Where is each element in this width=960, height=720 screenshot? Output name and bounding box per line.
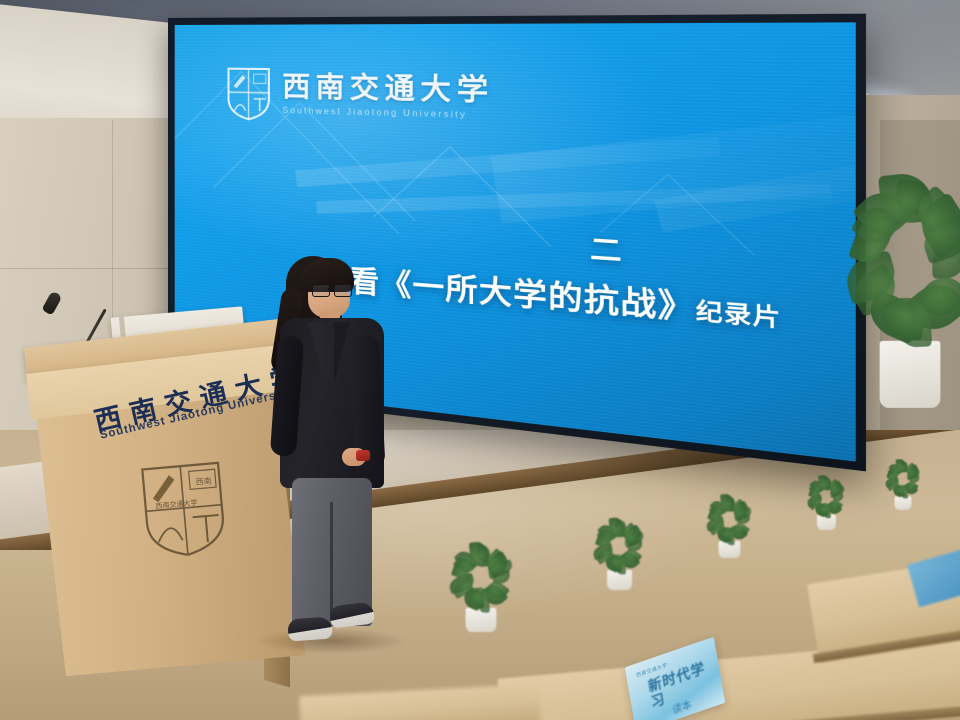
lecture-hall-scene: 西南交通大学 Southwest Jiaotong University 二 观… xyxy=(0,0,960,720)
watermark-shape xyxy=(295,137,721,187)
plant-ledge-4 xyxy=(803,476,850,530)
presentation-clicker[interactable] xyxy=(356,450,370,461)
svg-text:西南: 西南 xyxy=(195,476,212,487)
university-crest-icon xyxy=(226,66,272,122)
plant-foliage xyxy=(882,459,925,500)
presenter-shoe-left xyxy=(287,616,332,641)
plant-ledge-1 xyxy=(443,544,520,632)
plant-foliage xyxy=(588,517,650,576)
watermark-shape xyxy=(654,158,856,233)
slide-logo-chinese: 西南交通大学 xyxy=(282,74,494,107)
blazer-lapel-right xyxy=(334,322,350,384)
plant-ledge-2 xyxy=(588,518,650,590)
plant-foliage xyxy=(443,542,520,615)
plant-foliage xyxy=(701,494,756,545)
plant-ledge-3 xyxy=(701,495,756,558)
lectern-crest-icon: 西南 西南交通大学 xyxy=(138,459,230,562)
slide-logo: 西南交通大学 Southwest Jiaotong University xyxy=(226,66,495,129)
plant-foliage xyxy=(803,475,850,519)
plant-ledge-5 xyxy=(882,461,925,510)
plant-foliage xyxy=(833,163,960,360)
presenter xyxy=(268,252,398,652)
lectern[interactable]: 西南 西南交通大学 西南交通大学 Southwest Jiaotong Univ… xyxy=(24,340,294,720)
trouser-seam xyxy=(330,502,333,620)
glasses-icon xyxy=(312,284,352,296)
plant-floor-right xyxy=(833,168,960,408)
watermark-shape xyxy=(316,184,832,214)
watermark-shape xyxy=(491,113,856,223)
slide-logo-english: Southwest Jiaotong University xyxy=(282,106,494,120)
blazer-lapel-left xyxy=(308,322,324,382)
slide-title-suffix: 纪录片 xyxy=(696,299,782,332)
svg-text:西南交通大学: 西南交通大学 xyxy=(155,498,198,511)
